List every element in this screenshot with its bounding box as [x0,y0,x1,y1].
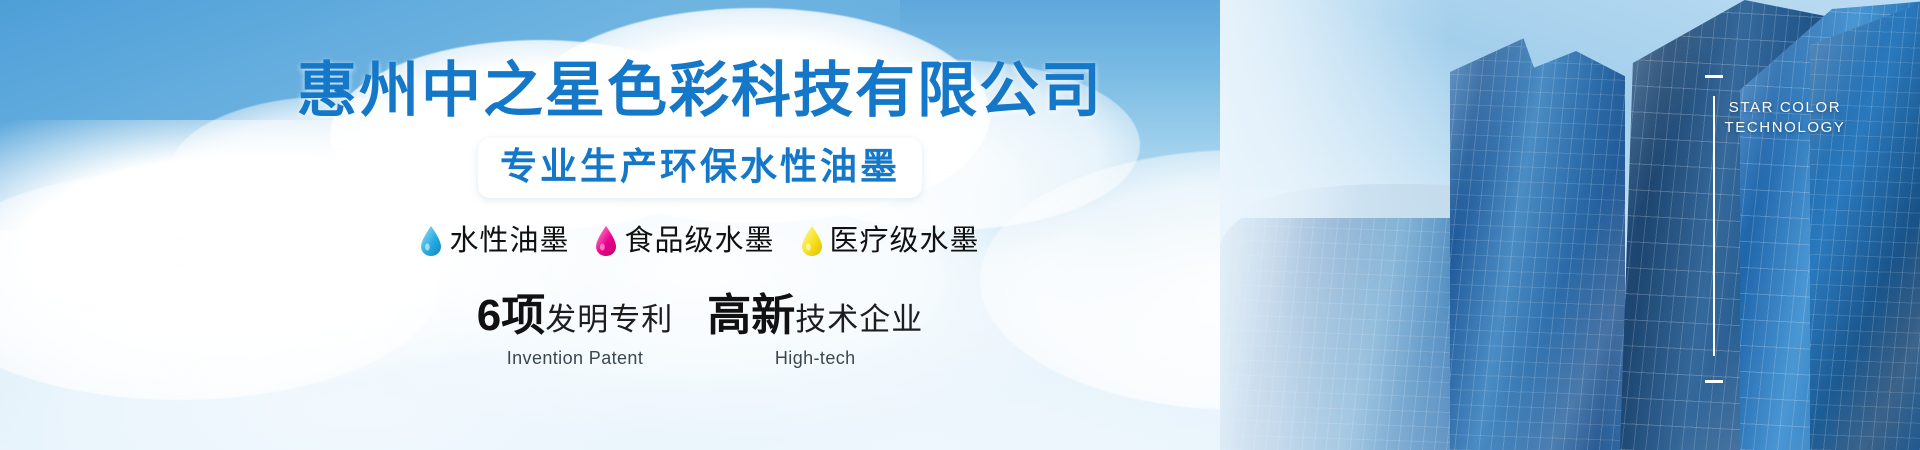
feature-item: 医疗级水墨 [801,224,980,258]
city-tagline-line1: STAR COLOR [1710,98,1860,118]
badge-english: High-tech [707,347,923,369]
company-hero-banner: Star Color STAR COLOR TECHNOLOGY [0,0,1920,450]
hero-content: 惠州中之星色彩科技有限公司 专业生产环保水性油墨 水性油墨 [320,0,1080,450]
badge-tail: 发明专利 [545,302,673,337]
city-tagline-line2: TECHNOLOGY [1710,118,1860,138]
credential-badges: 6项发明专利 Invention Patent 高新技术企业 High-tech [477,292,923,369]
water-drop-icon [595,226,617,256]
badge-english: Invention Patent [477,347,673,369]
badge-tail: 技术企业 [795,302,923,337]
tower-cylindrical [1450,30,1625,450]
tower-right-edge [1810,0,1920,450]
city-tagline: STAR COLOR TECHNOLOGY [1710,98,1860,138]
badge-headline-row: 6项发明专利 [477,292,673,344]
subtitle-pill: 专业生产环保水性油墨 [478,138,922,198]
feature-list: 水性油墨 食品级水墨 [420,224,979,258]
feature-label: 食品级水墨 [624,224,774,258]
accent-dash-bottom [1705,380,1723,383]
feature-item: 食品级水墨 [595,224,774,258]
badge-headline-row: 高新技术企业 [707,292,923,344]
company-title: 惠州中之星色彩科技有限公司 [297,58,1103,124]
water-drop-icon [801,226,823,256]
subtitle-text: 专业生产环保水性油墨 [500,146,900,187]
badge-headline: 6项 [477,291,545,340]
feature-label: 水性油墨 [449,224,569,258]
feature-label: 医疗级水墨 [830,224,980,258]
photo-fade-mask [1220,0,1450,450]
accent-dash-top [1705,75,1723,78]
badge-headline: 高新 [707,291,795,340]
badge-high-tech: 高新技术企业 High-tech [707,292,923,369]
feature-item: 水性油墨 [420,224,569,258]
badge-invention-patent: 6项发明专利 Invention Patent [477,292,673,369]
water-drop-icon [420,226,442,256]
city-skyline-image: STAR COLOR TECHNOLOGY [1220,0,1920,450]
